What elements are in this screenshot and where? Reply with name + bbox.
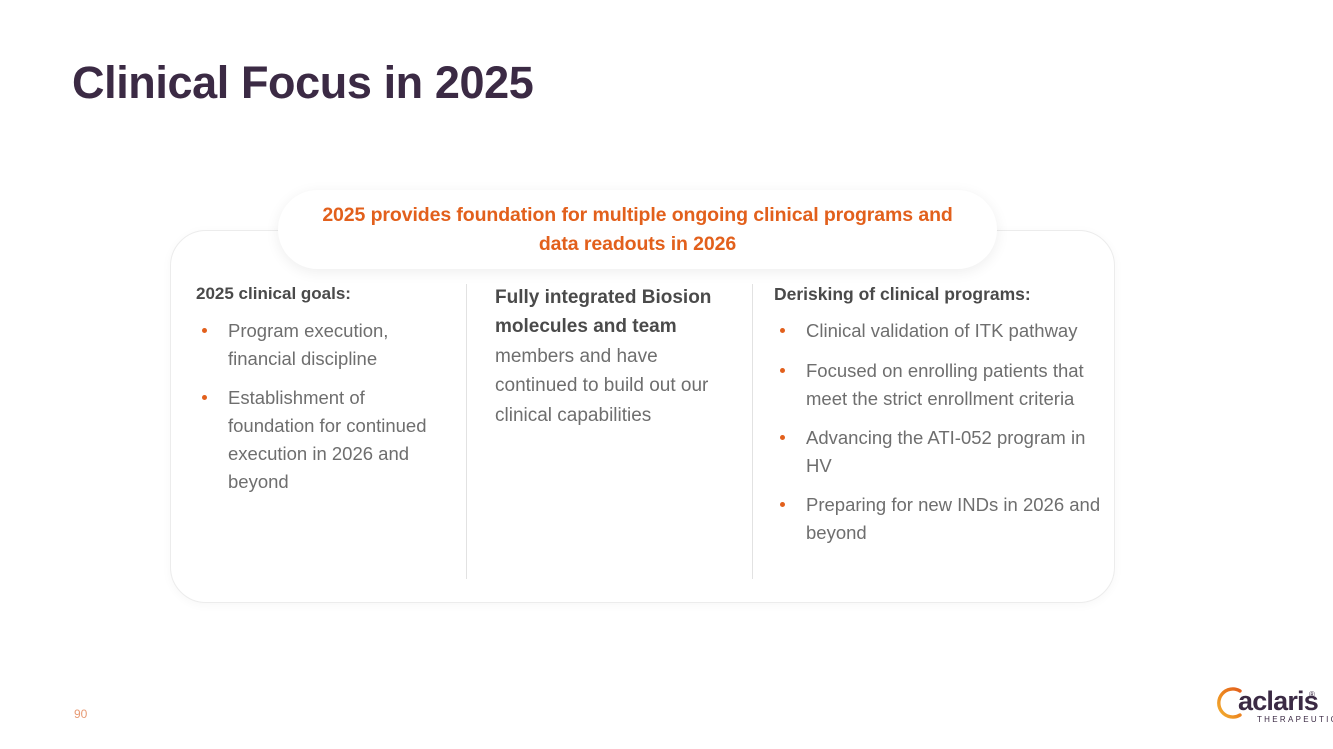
logo-wordmark: aclaris	[1238, 688, 1318, 715]
list-item-label: Establishment of foundation for continue…	[228, 387, 427, 492]
bullet-dot-icon	[780, 328, 785, 333]
callout-text: 2025 provides foundation for multiple on…	[278, 201, 997, 258]
list-item: Program execution, financial discipline	[196, 317, 446, 373]
list-item-label: Clinical validation of ITK pathway	[806, 320, 1077, 341]
bullet-dot-icon	[202, 328, 207, 333]
column-heading-clinical-goals: 2025 clinical goals:	[196, 283, 446, 305]
list-item: Establishment of foundation for continue…	[196, 384, 446, 496]
column-biosion-integration: Fully integrated Biosion molecules and t…	[495, 283, 740, 430]
list-item-label: Program execution, financial discipline	[228, 320, 388, 369]
bullet-dot-icon	[202, 395, 207, 400]
biosion-paragraph-rest: members and have continued to build out …	[495, 346, 708, 426]
list-item: Advancing the ATI-052 program in HV	[774, 424, 1109, 480]
logo-trademark: ®	[1309, 690, 1315, 699]
column-divider	[466, 284, 467, 579]
list-item-label: Advancing the ATI-052 program in HV	[806, 427, 1085, 476]
list-item: Focused on enrolling patients that meet …	[774, 357, 1109, 413]
column-heading-derisking: Derisking of clinical programs:	[774, 283, 1109, 305]
biosion-paragraph: Fully integrated Biosion molecules and t…	[495, 283, 740, 430]
list-item-label: Preparing for new INDs in 2026 and beyon…	[806, 494, 1100, 543]
biosion-paragraph-bold: Fully integrated Biosion molecules and t…	[495, 287, 711, 337]
bullet-dot-icon	[780, 502, 785, 507]
list-item: Clinical validation of ITK pathway	[774, 317, 1109, 345]
bullet-dot-icon	[780, 435, 785, 440]
page-number: 90	[74, 707, 87, 721]
column-divider	[752, 284, 753, 579]
logo-subtext: THERAPEUTICS	[1257, 715, 1333, 724]
column-clinical-goals: 2025 clinical goals: Program execution, …	[196, 283, 446, 496]
bullet-list-clinical-goals: Program execution, financial discipline …	[196, 317, 446, 497]
list-item: Preparing for new INDs in 2026 and beyon…	[774, 491, 1109, 547]
callout-banner: 2025 provides foundation for multiple on…	[278, 190, 997, 269]
aclaris-logo: aclaris ® THERAPEUTICS	[1212, 684, 1317, 728]
bullet-dot-icon	[780, 368, 785, 373]
list-item-label: Focused on enrolling patients that meet …	[806, 360, 1084, 409]
bullet-list-derisking: Clinical validation of ITK pathway Focus…	[774, 317, 1109, 547]
column-derisking: Derisking of clinical programs: Clinical…	[774, 283, 1109, 547]
page-title: Clinical Focus in 2025	[72, 58, 533, 108]
